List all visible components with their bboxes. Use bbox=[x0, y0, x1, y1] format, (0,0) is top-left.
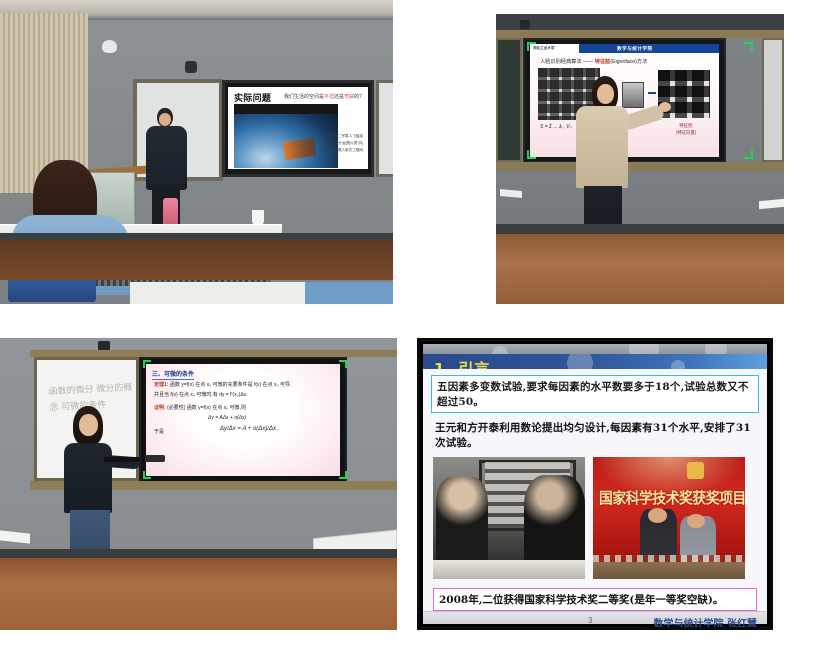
mean-face-image bbox=[622, 82, 644, 108]
slide-heading-prefix: 人脸识别经典算法 —— bbox=[540, 59, 595, 65]
slide-caption-line3: 来源:中国载人航天工程网 bbox=[317, 147, 363, 154]
slide-heading-highlight: 特征脸 bbox=[595, 59, 611, 65]
screen-corner-marker-tl bbox=[527, 42, 536, 51]
wood-floor bbox=[0, 240, 393, 280]
wood-floor bbox=[0, 558, 397, 630]
paper-cup bbox=[252, 210, 264, 225]
venue-floor bbox=[593, 562, 745, 579]
upper-dark-band bbox=[496, 14, 784, 30]
eigenface-caption: 特征脸 (特征向量) bbox=[662, 122, 710, 136]
slide-surface: 三、可微的条件 定理1: 函数 y=f(x) 在点 x₀ 可微的充要条件是 f(… bbox=[146, 364, 340, 476]
formula-1: Δy = AΔx + ο(Δx) bbox=[208, 415, 246, 421]
slide-footer: 3 数学与统计学院 张红慧 bbox=[423, 611, 767, 624]
spacecraft-icon bbox=[283, 137, 317, 160]
photo-collage: 实际问题 我们生活的空间是平坦还是弯曲的? 神舟十二号载人飞船组 合体的部分运(… bbox=[0, 0, 823, 654]
screen-corner-marker-tr bbox=[339, 360, 347, 368]
slide-caption-line1: 神舟十二号载人飞船组 bbox=[317, 133, 363, 140]
whiteboard-right bbox=[376, 80, 393, 177]
slide-equation: S = Σ ... λᵢ , Vₙ bbox=[540, 124, 572, 130]
baseboard bbox=[0, 549, 397, 558]
proof-text: (必要性) 函数 y=f(x) 在点 x₀ 可微,则 bbox=[167, 405, 246, 411]
instructor-face bbox=[79, 414, 98, 436]
highlight-box-cyan: 五因素多变数试验,要求每因素的水平数要多于18个,试验总数又不超过50。 bbox=[431, 375, 759, 413]
blue-chair-right bbox=[305, 282, 393, 304]
screen-corner-marker-bl bbox=[527, 150, 536, 159]
theorem-line-2: 并且当 f(x) 在点 x₀ 可微时,有 dy = f′(x₀)Δx. bbox=[154, 391, 248, 398]
instructor-torso bbox=[146, 126, 187, 190]
bubble-decor-2 bbox=[705, 344, 727, 354]
slide-body: 五因素多变数试验,要求每因素的水平数要多于18个,试验总数又不超过50。 王元和… bbox=[423, 369, 767, 611]
wood-floor bbox=[496, 234, 784, 304]
slide-caption-line2: 合体的部分运(图片提 供) bbox=[317, 140, 363, 147]
university-logo-text: 河北工业大学 bbox=[533, 46, 555, 51]
space-band bbox=[234, 104, 338, 114]
chalkboard-left bbox=[496, 38, 522, 162]
theorem-text: 函数 y=f(x) 在点 x₀ 可微的充要条件是 f(x) 在点 x₀ 可导. bbox=[170, 382, 292, 388]
panel-lecture-slide[interactable]: 1. 引言 五因素多变数试验,要求每因素的水平数要多于18个,试验总数又不超过5… bbox=[417, 338, 773, 630]
highlight-box-magenta: 2008年,二位获得国家科学技术奖二等奖(是年一等奖空缺)。 bbox=[433, 588, 757, 611]
display-screen[interactable]: 三、可微的条件 定理1: 函数 y=f(x) 在点 x₀ 可微的充要条件是 f(… bbox=[139, 357, 347, 483]
photo-award-ceremony: 国家科学技术奖获奖项目展示 bbox=[593, 457, 745, 579]
bubble-decor-4 bbox=[567, 354, 593, 369]
ptz-camera-icon bbox=[520, 20, 530, 29]
scholar-left-figure bbox=[436, 477, 488, 562]
footer-affiliation: 数学与统计学院 张红慧 bbox=[654, 615, 757, 630]
page-number: 3 bbox=[588, 616, 592, 625]
national-emblem-icon bbox=[687, 462, 704, 479]
instructor-hand bbox=[659, 102, 671, 112]
bubble-decor-5 bbox=[671, 360, 685, 369]
slide-title-bar: 1. 引言 bbox=[423, 354, 767, 369]
whiteboard-right bbox=[762, 38, 784, 162]
slide-title: 1. 引言 bbox=[434, 358, 490, 369]
arrow-right-icon-2 bbox=[648, 92, 656, 94]
instructor-coat bbox=[576, 106, 628, 188]
desk-surface bbox=[433, 560, 585, 580]
photo-scholars-bw bbox=[433, 457, 585, 579]
board-rail-bottom bbox=[496, 162, 784, 171]
slide-subtitle-prefix: 我们生活的空间是 bbox=[284, 94, 324, 100]
eigenface-caption-line2: (特征向量) bbox=[662, 129, 710, 136]
screen-corner-marker-tr bbox=[744, 42, 753, 51]
screen-corner-marker-br bbox=[744, 150, 753, 159]
instructor-face bbox=[159, 113, 171, 126]
instructor-face bbox=[597, 84, 614, 104]
instructor-torso bbox=[64, 443, 112, 513]
proof-label: 证明: bbox=[154, 405, 166, 411]
then-label: 于是 bbox=[154, 428, 164, 435]
panel-bottom-left-classroom[interactable]: 函数的微分 微分的概念 可微的条件 三、可微的条件 定理1: 函数 y=f(x)… bbox=[0, 338, 397, 630]
panel-top-left-classroom[interactable]: 实际问题 我们生活的空间是平坦还是弯曲的? 神舟十二号载人飞船组 合体的部分运(… bbox=[0, 0, 393, 304]
slide-header-title: 数学与统计学院 bbox=[617, 46, 653, 52]
laser-pointer-icon bbox=[104, 457, 140, 462]
slide-caption: 神舟十二号载人飞船组 合体的部分运(图片提 供) 来源:中国载人航天工程网 bbox=[317, 133, 363, 153]
bubble-decor-1 bbox=[629, 344, 659, 354]
screen-corner-marker-br bbox=[339, 471, 347, 479]
theorem-line: 定理1: 函数 y=f(x) 在点 x₀ 可微的充要条件是 f(x) 在点 x₀… bbox=[154, 381, 291, 388]
slide-surface: 1. 引言 五因素多变数试验,要求每因素的水平数要多于18个,试验总数又不超过5… bbox=[423, 344, 767, 624]
board-rail-top bbox=[496, 30, 784, 38]
panel-top-right-classroom[interactable]: 河北工业大学 数学与统计学院 人脸识别经典算法 —— 特征脸(Eigenface… bbox=[496, 14, 784, 304]
slide-subtitle-mid: 还是 bbox=[334, 94, 344, 100]
banner-text: 国家科学技术奖获奖项目展示 bbox=[599, 487, 728, 508]
body-paragraph: 王元和方开泰利用数论提出均匀设计,每因素有31个水平,安排了31次试验。 bbox=[431, 420, 759, 450]
slide-heading: 人脸识别经典算法 —— 特征脸(Eigenface)方法 bbox=[540, 58, 647, 65]
screen-toolbar-tag[interactable] bbox=[145, 455, 165, 462]
theorem-label: 定理1: bbox=[154, 382, 168, 388]
slide-heading-suffix: (Eigenface)方法 bbox=[610, 59, 647, 65]
proof-line: 证明: (必要性) 函数 y=f(x) 在点 x₀ 可微,则 bbox=[154, 404, 246, 411]
slide-title: 实际问题 bbox=[234, 91, 271, 104]
display-screen[interactable]: 实际问题 我们生活的空间是平坦还是弯曲的? 神舟十二号载人飞船组 合体的部分运(… bbox=[222, 80, 374, 177]
slide-title: 三、可微的条件 bbox=[152, 369, 194, 380]
eigenface-caption-line1: 特征脸 bbox=[662, 122, 710, 129]
slide-subtitle-suffix: 的? bbox=[354, 94, 362, 100]
dome-camera-icon bbox=[102, 40, 117, 53]
scholar-right-figure bbox=[524, 475, 585, 563]
slide-highlight-flat: 平坦 bbox=[324, 94, 334, 100]
slide-surface: 实际问题 我们生活的空间是平坦还是弯曲的? 神舟十二号载人飞船组 合体的部分运(… bbox=[228, 87, 368, 169]
slide-subtitle: 我们生活的空间是平坦还是弯曲的? bbox=[284, 93, 362, 100]
board-rail-top bbox=[30, 350, 397, 357]
slide-highlight-curved: 弯曲 bbox=[344, 94, 354, 100]
screen-corner-marker-bl bbox=[143, 471, 151, 479]
slide-decorative-band bbox=[423, 344, 767, 354]
photo-row: 国家科学技术奖获奖项目展示 bbox=[431, 457, 759, 579]
baseboard bbox=[496, 224, 784, 234]
formula-2: Δy/Δx = A + ο(Δx)/Δx . bbox=[220, 426, 279, 432]
ptz-camera-icon bbox=[185, 61, 197, 73]
screen-corner-marker-tl bbox=[143, 360, 151, 368]
bubble-decor-3 bbox=[492, 346, 508, 354]
